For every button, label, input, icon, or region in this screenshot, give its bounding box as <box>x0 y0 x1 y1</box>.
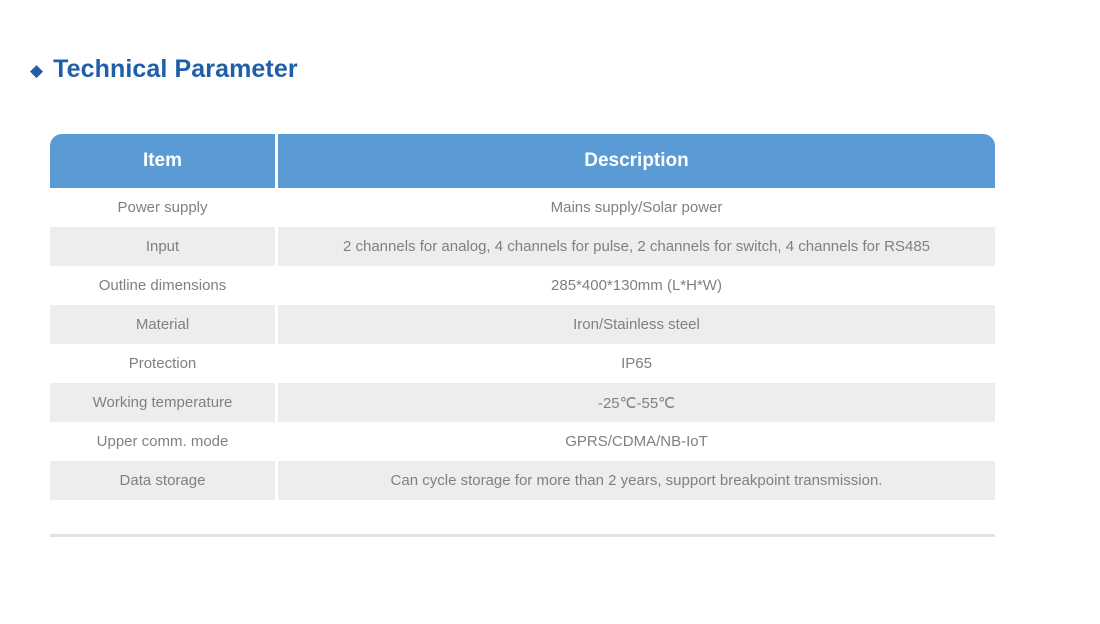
cell-item: Power supply <box>50 188 275 227</box>
cell-description: 2 channels for analog, 4 channels for pu… <box>278 227 995 266</box>
cell-item: Outline dimensions <box>50 266 275 305</box>
table-row: Data storage Can cycle storage for more … <box>50 461 995 500</box>
cell-item: Working temperature <box>50 383 275 422</box>
cell-item: Protection <box>50 344 275 383</box>
cell-item: Upper comm. mode <box>50 422 275 461</box>
column-header-description: Description <box>278 134 995 188</box>
cell-description: Can cycle storage for more than 2 years,… <box>278 461 995 500</box>
table-row: Outline dimensions 285*400*130mm (L*H*W) <box>50 266 995 305</box>
cell-description: 285*400*130mm (L*H*W) <box>278 266 995 305</box>
cell-description: Mains supply/Solar power <box>278 188 995 227</box>
table-row: Working temperature -25℃-55℃ <box>50 383 995 422</box>
table-row: Material Iron/Stainless steel <box>50 305 995 344</box>
cell-item: Material <box>50 305 275 344</box>
cell-item: Data storage <box>50 461 275 500</box>
diamond-bullet-icon: ◆ <box>30 62 43 79</box>
table-row: Power supply Mains supply/Solar power <box>50 188 995 227</box>
cell-description: IP65 <box>278 344 995 383</box>
table-body: Power supply Mains supply/Solar power In… <box>50 188 995 500</box>
table-row: Protection IP65 <box>50 344 995 383</box>
footer-divider <box>50 534 995 537</box>
technical-parameter-table: Item Description Power supply Mains supp… <box>50 134 995 500</box>
cell-description: GPRS/CDMA/NB-IoT <box>278 422 995 461</box>
column-header-item: Item <box>50 134 275 188</box>
table-row: Input 2 channels for analog, 4 channels … <box>50 227 995 266</box>
table-header: Item Description <box>50 134 995 188</box>
page-title: ◆ Technical Parameter <box>30 55 298 84</box>
cell-item: Input <box>50 227 275 266</box>
cell-description: -25℃-55℃ <box>278 383 995 422</box>
table-row: Upper comm. mode GPRS/CDMA/NB-IoT <box>50 422 995 461</box>
page-title-text: Technical Parameter <box>53 55 298 84</box>
table-header-row: Item Description <box>50 134 995 188</box>
cell-description: Iron/Stainless steel <box>278 305 995 344</box>
